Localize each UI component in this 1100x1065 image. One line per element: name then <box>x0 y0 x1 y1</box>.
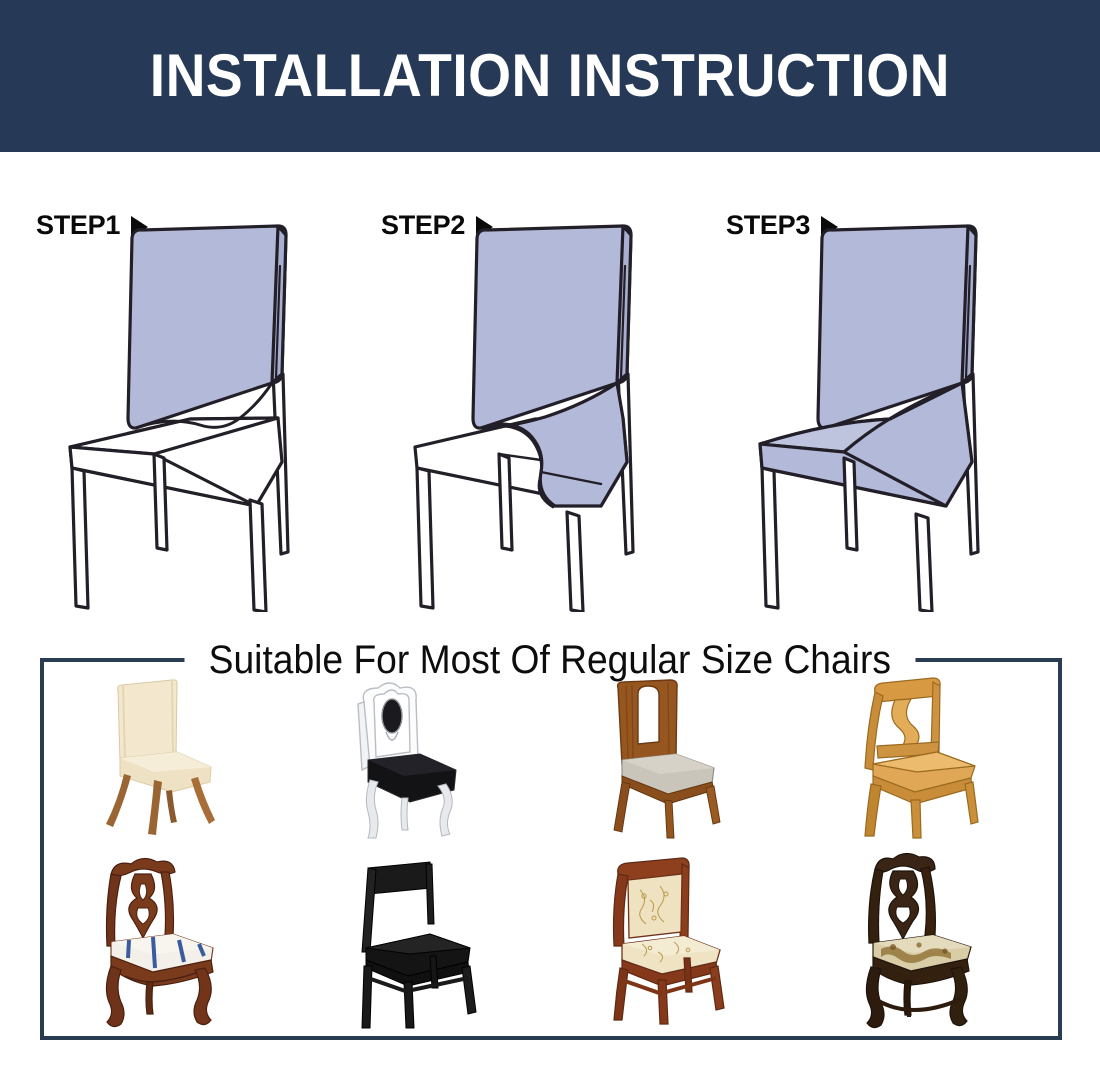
suitable-chairs-grid <box>44 672 1058 1036</box>
cherry-floral-chair-icon <box>588 852 768 1032</box>
chair-thumb-3 <box>551 672 805 847</box>
chair-thumb-7 <box>551 847 805 1037</box>
step-3: STEP3 <box>700 152 1050 622</box>
installation-instruction-page: INSTALLATION INSTRUCTION STEP1 <box>0 0 1100 1065</box>
step-2: STEP2 <box>355 152 705 622</box>
golden-oak-fiddleback-chair-icon <box>841 672 1021 847</box>
steps-row: STEP1 <box>0 152 1100 622</box>
chair-thumb-2 <box>298 672 552 847</box>
step-1: STEP1 <box>10 152 360 622</box>
chair-thumb-6 <box>298 847 552 1037</box>
step-1-illustration <box>50 222 350 612</box>
chair-thumb-5 <box>44 847 298 1037</box>
step-3-illustration <box>740 222 1040 612</box>
silver-baroque-chair-icon <box>334 672 514 847</box>
chair-thumb-1 <box>44 672 298 847</box>
black-wood-chair-icon <box>334 852 514 1032</box>
chair-thumb-4 <box>805 672 1059 847</box>
step-2-illustration <box>395 222 695 612</box>
cream-upholstered-chair-icon <box>76 672 266 847</box>
dark-carved-tapestry-chair-icon <box>841 847 1021 1037</box>
page-title: INSTALLATION INSTRUCTION <box>150 46 950 106</box>
chair-thumb-8 <box>805 847 1059 1037</box>
page-header: INSTALLATION INSTRUCTION <box>0 0 1100 152</box>
dark-wood-slot-back-chair-icon <box>588 672 768 847</box>
mahogany-chippendale-chair-icon <box>81 850 261 1035</box>
